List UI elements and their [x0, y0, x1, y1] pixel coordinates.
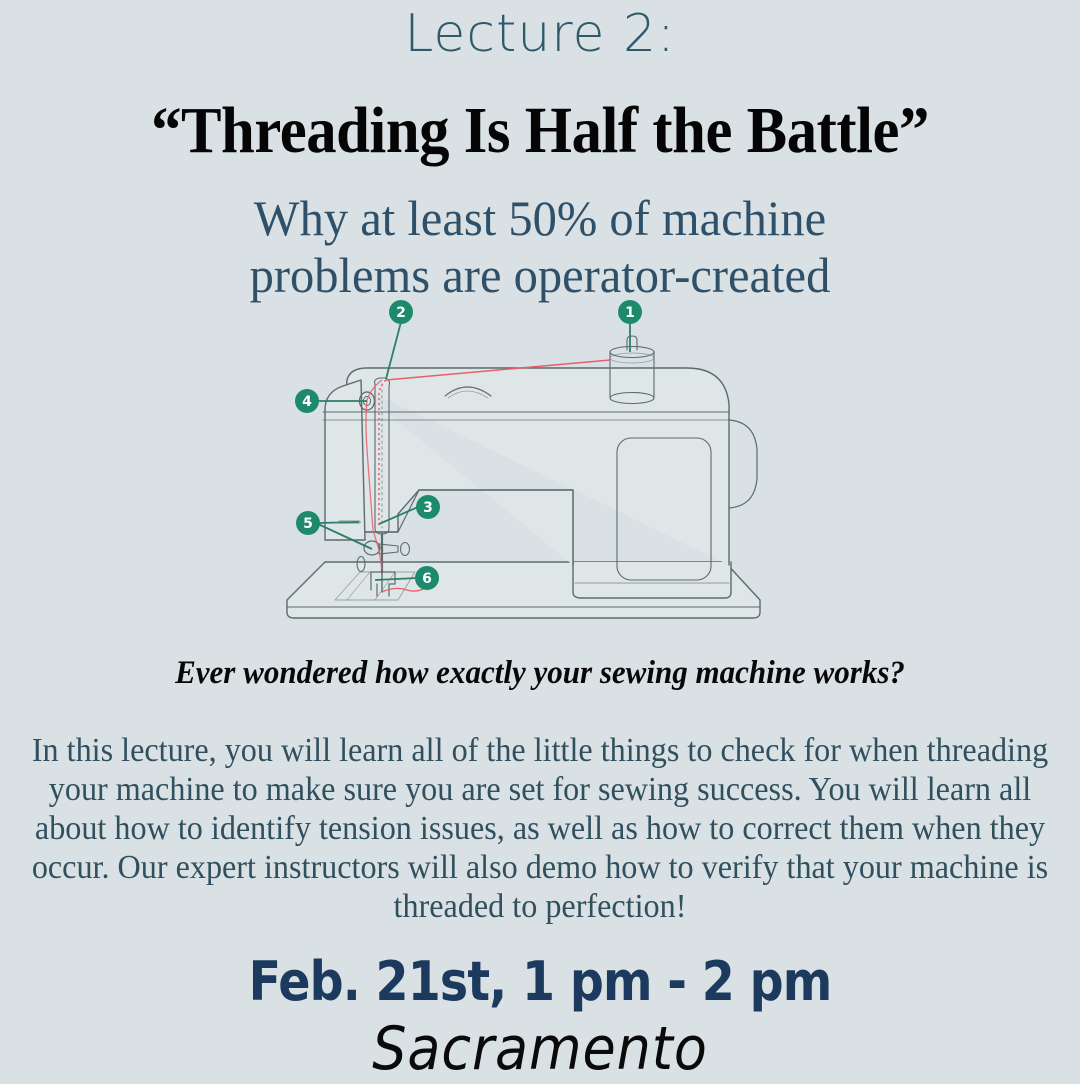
body-description: In this lecture, you will learn all of t… [31, 731, 1049, 926]
diagram-marker-1[interactable]: 1 [618, 300, 642, 324]
diagram-marker-4-label: 4 [302, 394, 312, 410]
diagram-marker-2-label: 2 [396, 305, 406, 321]
lecture-number-label: Lecture 2: [0, 6, 1080, 63]
lecture-poster: Lecture 2: “Threading Is Half the Battle… [0, 0, 1080, 1080]
diagram-marker-4[interactable]: 4 [295, 389, 319, 413]
sewing-machine-diagram: 1 2 3 4 5 [255, 300, 775, 650]
diagram-marker-1-label: 1 [625, 305, 635, 321]
page-subtitle: Why at least 50% of machine problems are… [16, 190, 1064, 304]
tagline: Ever wondered how exactly your sewing ma… [32, 655, 1047, 692]
page-subtitle-line-1: Why at least 50% of machine [16, 190, 1064, 247]
leader-line-5a [318, 522, 359, 523]
diagram-marker-2[interactable]: 2 [389, 300, 413, 324]
diagram-marker-5[interactable]: 5 [296, 511, 320, 535]
page-subtitle-line-2: problems are operator-created [16, 247, 1064, 304]
diagram-marker-5-label: 5 [303, 516, 313, 532]
page-title: “Threading Is Half the Battle” [43, 96, 1037, 165]
diagram-marker-6-label: 6 [422, 571, 432, 587]
diagram-marker-3-label: 3 [423, 500, 433, 516]
diagram-marker-3[interactable]: 3 [416, 495, 440, 519]
event-datetime: Feb. 21st, 1 pm - 2 pm [65, 950, 1015, 1013]
event-location: Sacramento [54, 1014, 1026, 1084]
diagram-marker-6[interactable]: 6 [415, 566, 439, 590]
